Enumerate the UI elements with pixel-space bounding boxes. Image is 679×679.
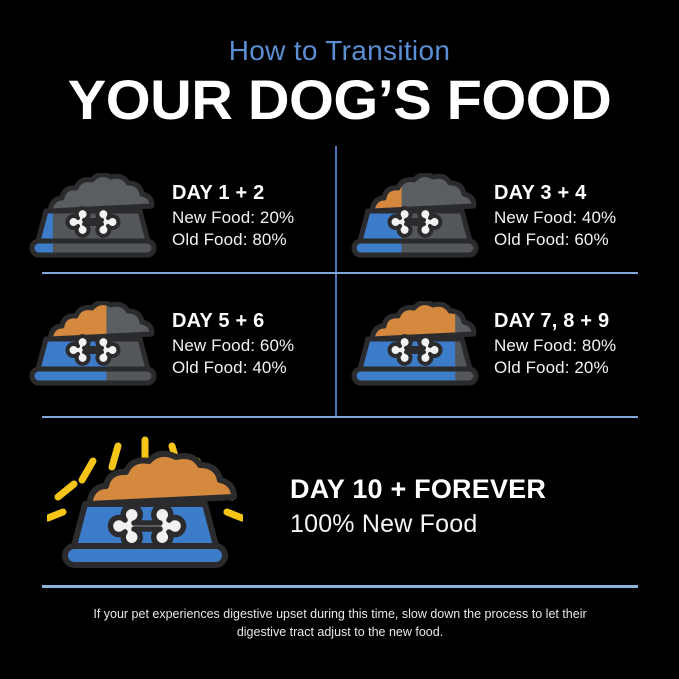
dog-bowl-icon	[18, 301, 168, 387]
infographic-page: How to Transition YOUR DOG’S FOOD	[0, 0, 679, 679]
step-new-food: New Food: 60%	[172, 335, 343, 357]
step-new-food: New Food: 80%	[494, 335, 665, 357]
step-old-food: Old Food: 40%	[172, 357, 343, 379]
step-day-label: DAY 1 + 2	[172, 181, 343, 205]
step-day-label: DAY 7, 8 + 9	[494, 309, 665, 333]
step-card: DAY 7, 8 + 9 New Food: 80% Old Food: 20%	[340, 284, 665, 404]
page-title: YOUR DOG’S FOOD	[0, 71, 679, 130]
dog-bowl-icon	[18, 173, 168, 259]
step-day-label: DAY 3 + 4	[494, 181, 665, 205]
step-new-food: New Food: 40%	[494, 207, 665, 229]
step-text: DAY 3 + 4 New Food: 40% Old Food: 60%	[490, 181, 665, 252]
step-text: DAY 1 + 2 New Food: 20% Old Food: 80%	[168, 181, 343, 252]
step-old-food: Old Food: 60%	[494, 229, 665, 251]
horizontal-divider-bottom	[42, 585, 638, 588]
step-card: DAY 1 + 2 New Food: 20% Old Food: 80%	[18, 156, 343, 276]
final-step-card: DAY 10 + FOREVER 100% New Food	[0, 432, 679, 580]
dog-bowl-icon	[340, 301, 490, 387]
step-text: DAY 7, 8 + 9 New Food: 80% Old Food: 20%	[490, 309, 665, 380]
step-old-food: Old Food: 20%	[494, 357, 665, 379]
step-text: DAY 5 + 6 New Food: 60% Old Food: 40%	[168, 309, 343, 380]
step-card: DAY 5 + 6 New Food: 60% Old Food: 40%	[18, 284, 343, 404]
dog-bowl-icon	[340, 173, 490, 259]
dog-bowl-starburst-icon	[0, 436, 290, 576]
step-day-label: DAY 5 + 6	[172, 309, 343, 333]
final-food-label: 100% New Food	[290, 509, 679, 539]
step-card: DAY 3 + 4 New Food: 40% Old Food: 60%	[340, 156, 665, 276]
step-new-food: New Food: 20%	[172, 207, 343, 229]
header-subtitle: How to Transition	[0, 36, 679, 65]
header: How to Transition YOUR DOG’S FOOD	[0, 0, 679, 130]
step-old-food: Old Food: 80%	[172, 229, 343, 251]
horizontal-divider-lower	[42, 416, 638, 418]
transition-steps-grid: DAY 1 + 2 New Food: 20% Old Food: 80%	[0, 150, 679, 416]
final-day-label: DAY 10 + FOREVER	[290, 473, 679, 505]
final-step-text: DAY 10 + FOREVER 100% New Food	[290, 473, 679, 538]
footnote-text: If your pet experiences digestive upset …	[70, 605, 610, 641]
